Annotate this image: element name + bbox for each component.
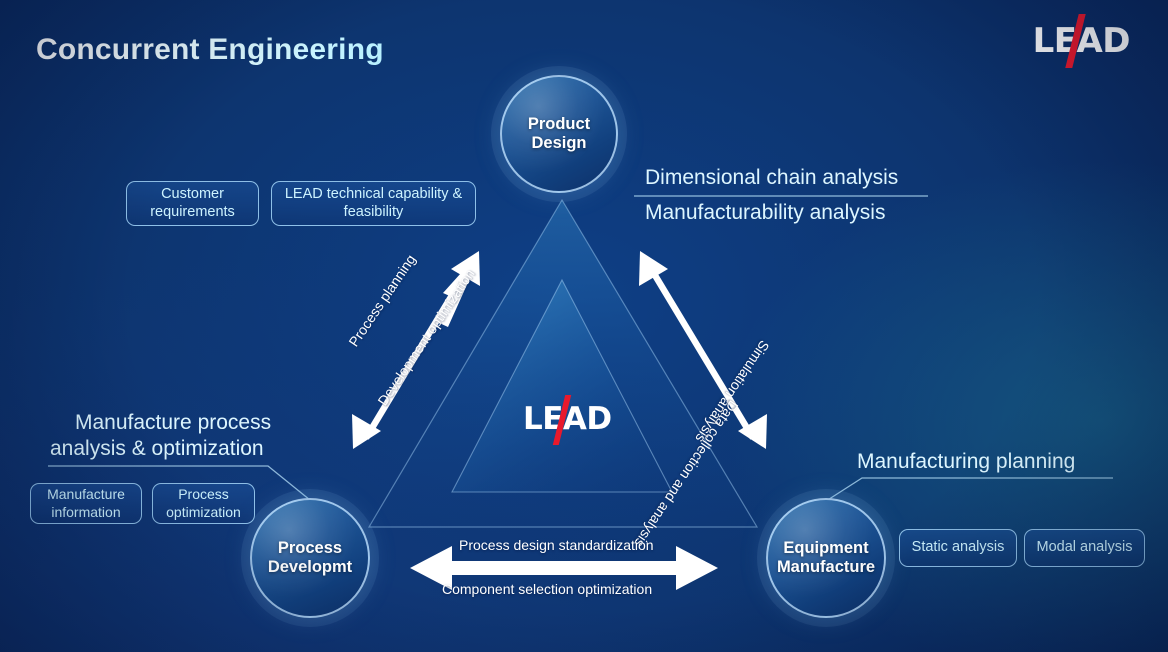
annotation-manufacture-process-line2: analysis & optimization (50, 437, 264, 461)
pill-static-analysis[interactable]: Static analysis (899, 529, 1017, 567)
node-label-line1: Equipment (777, 539, 875, 558)
pill-process-optimization[interactable]: Process optimization (152, 483, 255, 524)
pill-label: Static analysis (912, 539, 1005, 557)
pill-label-line2: optimization (166, 504, 241, 520)
node-label-line2: Developmt (268, 558, 352, 577)
pill-modal-analysis[interactable]: Modal analysis (1024, 529, 1145, 567)
lead-logo-top-right: LEAD (1033, 24, 1130, 58)
node-label-line1: Product (528, 115, 590, 134)
pill-label-line1: Manufacture (47, 486, 125, 502)
annotation-manufacture-process-line1: Manufacture process (75, 411, 271, 435)
pill-label: Modal analysis (1037, 539, 1133, 557)
annotation-manufacturing-planning: Manufacturing planning (857, 450, 1075, 474)
node-label-line2: Manufacture (777, 558, 875, 577)
pill-label-line2: requirements (150, 204, 235, 220)
arrow-label-process-design-standardization: Process design standardization (459, 537, 654, 553)
node-label-line1: Process (268, 539, 352, 558)
annotation-dimensional-chain-analysis: Dimensional chain analysis (645, 166, 898, 190)
pill-manufacture-information[interactable]: Manufacture information (30, 483, 142, 524)
arrow-label-component-selection-optimization: Component selection optimization (442, 581, 652, 597)
lead-logo-center: LEAD (523, 404, 612, 435)
pill-label-line1: LEAD technical (285, 186, 384, 202)
node-product-design[interactable]: Product Design (500, 75, 618, 193)
pill-customer-requirements[interactable]: Customer requirements (126, 181, 259, 226)
node-equipment-manufacture[interactable]: Equipment Manufacture (766, 498, 886, 618)
connector-bottom-right (823, 478, 1113, 503)
slide-canvas: Concurrent Engineering LEAD LEAD Product… (0, 0, 1168, 652)
pill-label-line1: Customer (161, 186, 224, 202)
pill-lead-technical-capability[interactable]: LEAD technical capability & feasibility (271, 181, 476, 226)
node-process-development[interactable]: Process Developmt (250, 498, 370, 618)
pill-label-line1: Process (178, 486, 229, 502)
page-title: Concurrent Engineering (36, 33, 384, 67)
pill-label-line2: information (51, 504, 120, 520)
node-label-line2: Design (528, 134, 590, 153)
annotation-manufacturability-analysis: Manufacturability analysis (645, 201, 885, 225)
